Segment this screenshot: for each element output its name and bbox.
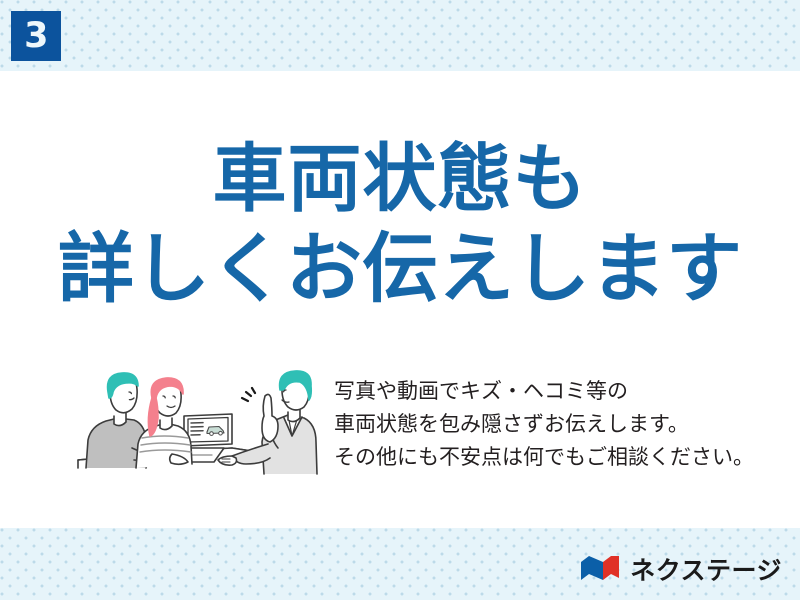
- headline: 車両状態も 詳しくお伝えします: [0, 134, 800, 314]
- body-copy: 写真や動画でキズ・ヘコミ等の 車両状態を包み隠さずお伝えします。 その他にも不安…: [334, 375, 774, 474]
- brand-name: ネクステージ: [630, 558, 782, 583]
- step-badge-number: 3: [24, 19, 48, 54]
- step-badge: 3: [11, 11, 61, 61]
- consultation-illustration: [72, 356, 322, 481]
- body-copy-line-3: その他にも不安点は何でもご相談ください。: [334, 441, 774, 474]
- slide-root: 3 車両状態も 詳しくお伝えします: [0, 0, 800, 600]
- brand-logo: ネクステージ: [579, 554, 782, 586]
- headline-line-1: 車両状態も: [0, 134, 800, 224]
- nextage-n-logo-icon: [579, 554, 621, 586]
- body-copy-line-1: 写真や動画でキズ・ヘコミ等の: [334, 375, 774, 408]
- headline-line-2: 詳しくお伝えします: [0, 224, 800, 314]
- body-copy-line-2: 車両状態を包み隠さずお伝えします。: [334, 408, 774, 441]
